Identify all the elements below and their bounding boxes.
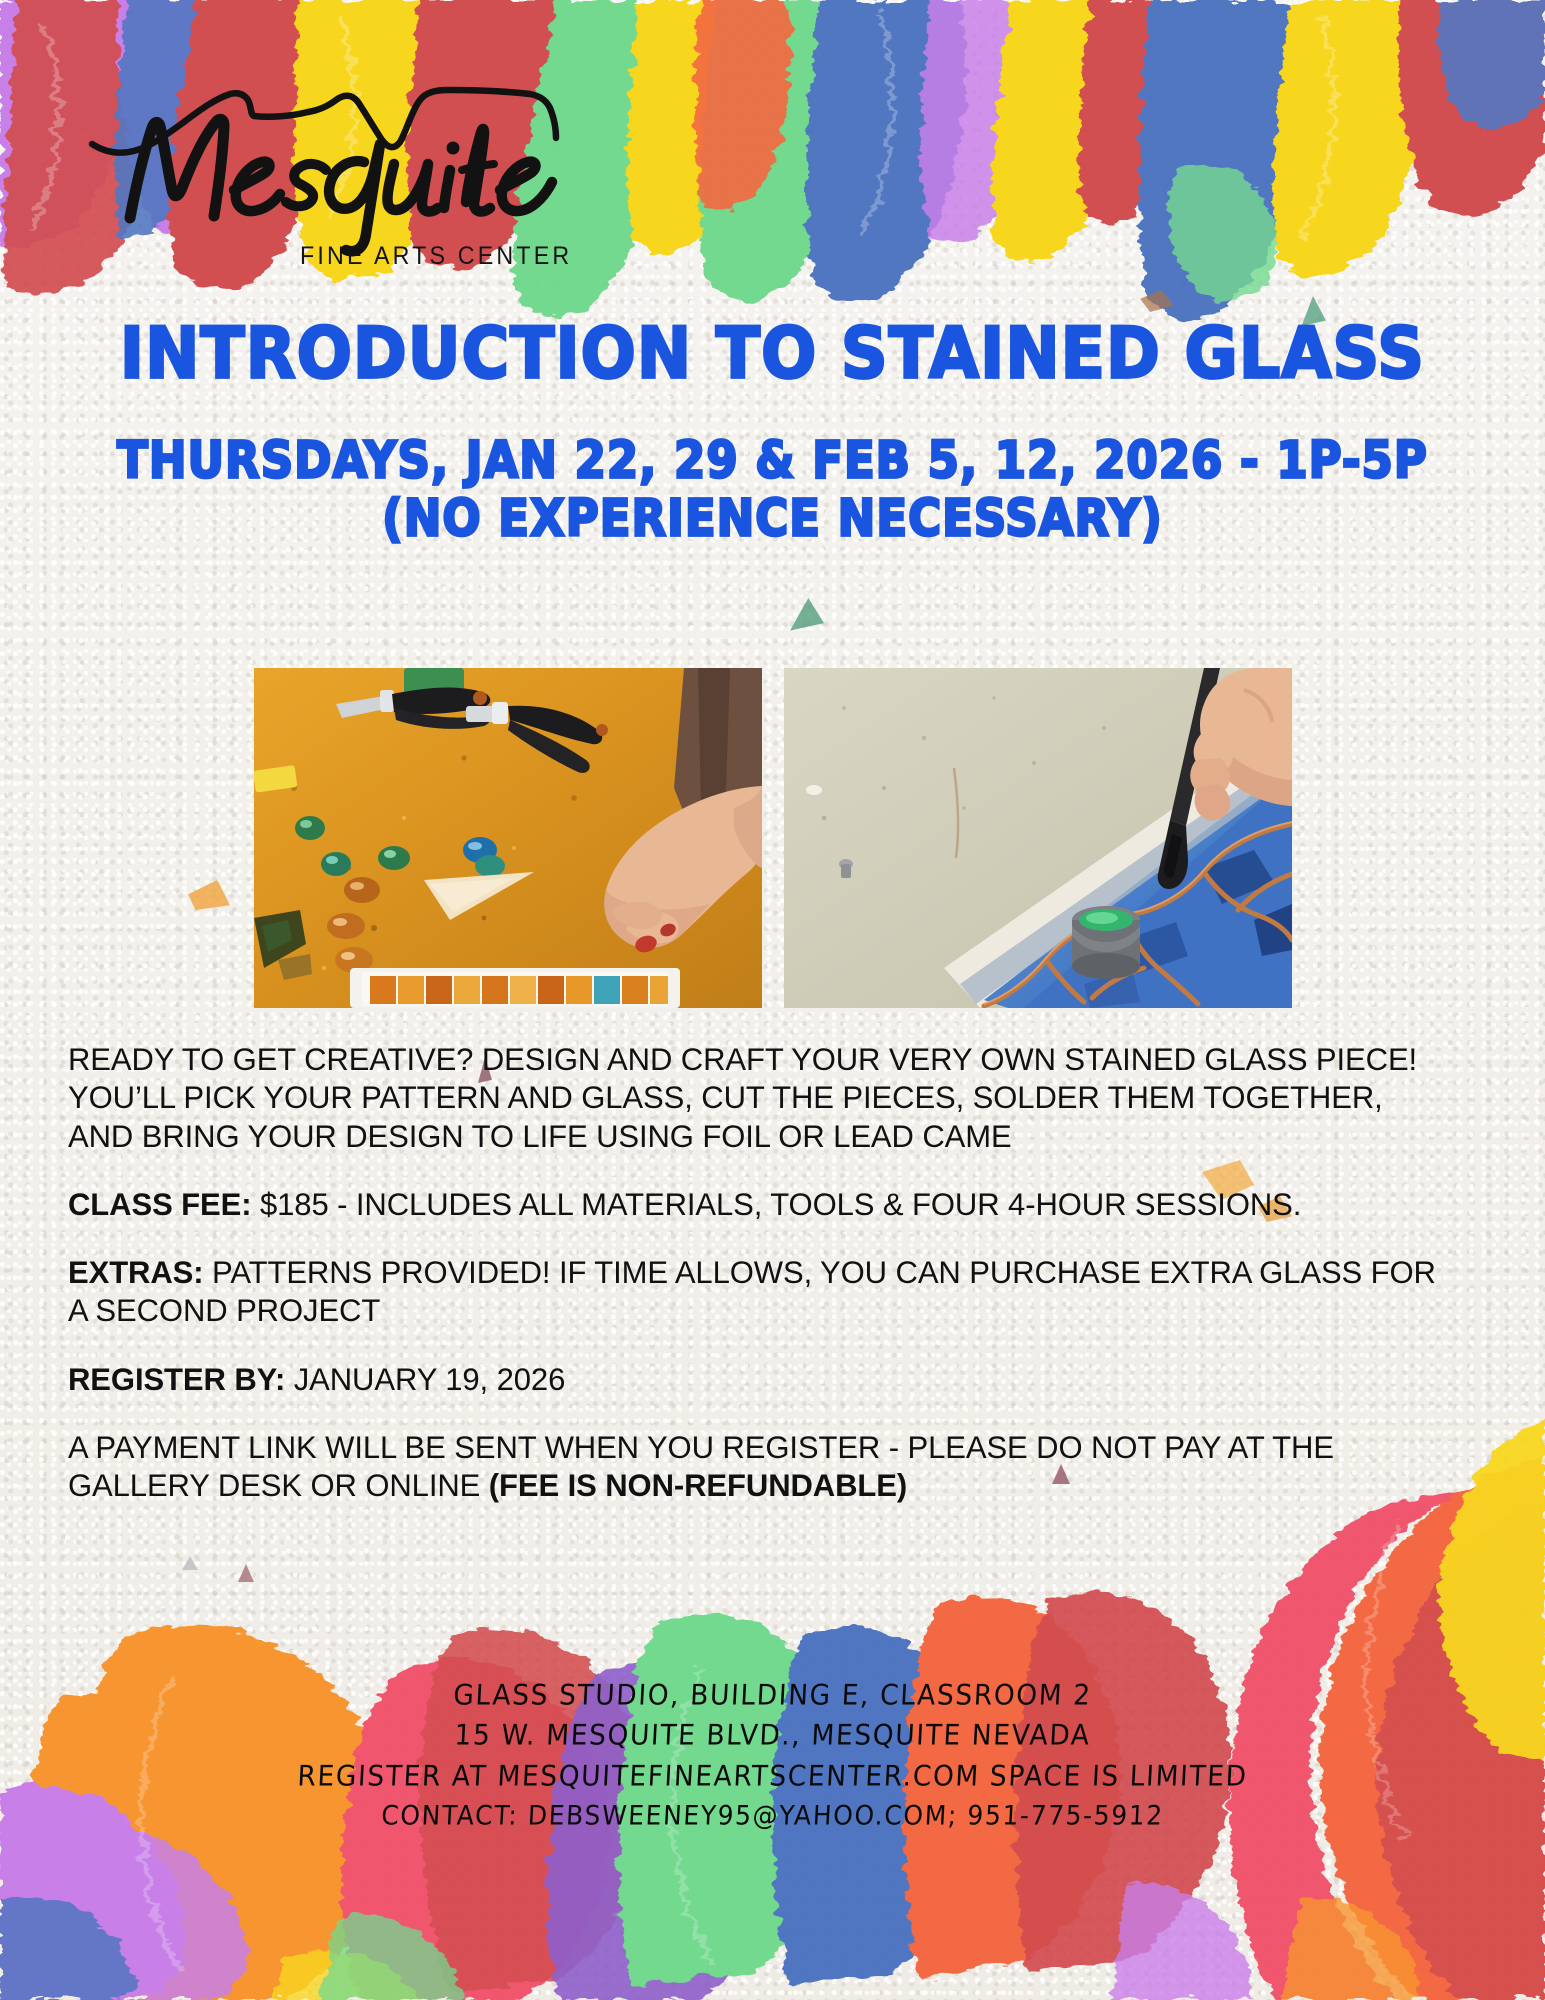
footer-location: GLASS STUDIO, BUILDING E, CLASSROOM 2 xyxy=(0,1675,1545,1718)
class-fee-label: CLASS FEE: xyxy=(68,1186,251,1222)
footer-details: GLASS STUDIO, BUILDING E, CLASSROOM 2 15… xyxy=(0,1676,1545,1835)
logo-subtitle: FINE ARTS CENTER xyxy=(300,242,572,271)
footer-contact: CONTACT: DEBSWEENEY95@YAHOO.COM; 951-775… xyxy=(0,1795,1545,1836)
non-refundable-note: (FEE IS NON-REFUNDABLE) xyxy=(489,1467,907,1503)
register-by-label: REGISTER BY: xyxy=(68,1361,285,1397)
extras-paragraph: EXTRAS: PATTERNS PROVIDED! IF TIME ALLOW… xyxy=(68,1253,1452,1330)
flyer-canvas: FINE ARTS CENTER INTRODUCTION TO STAINED… xyxy=(0,0,1545,2000)
experience-note: (NO EXPERIENCE NECESSARY) xyxy=(0,492,1545,545)
register-by-value: JANUARY 19, 2026 xyxy=(285,1361,565,1397)
class-fee-value: $185 - INCLUDES ALL MATERIALS, TOOLS & F… xyxy=(251,1186,1301,1222)
photo-row xyxy=(0,668,1545,1008)
photo-workbench-glass-mosaic xyxy=(254,668,762,1008)
intro-paragraph: READY TO GET CREATIVE? DESIGN AND CRAFT … xyxy=(68,1040,1452,1155)
footer-address: 15 W. MESQUITE BLVD., MESQUITE NEVADA xyxy=(0,1715,1545,1758)
body-copy: READY TO GET CREATIVE? DESIGN AND CRAFT … xyxy=(68,1040,1473,1504)
footer-register-url: REGISTER AT MESQUITEFINEARTSCENTER.COM S… xyxy=(0,1755,1545,1798)
page-title: INTRODUCTION TO STAINED GLASS xyxy=(0,318,1545,390)
photo-copper-foil-soldering xyxy=(784,668,1292,1008)
headline-group: INTRODUCTION TO STAINED GLASS THURSDAYS,… xyxy=(0,318,1545,540)
class-dates: THURSDAYS, JAN 22, 29 & FEB 5, 12, 2026 … xyxy=(0,434,1545,487)
register-by-paragraph: REGISTER BY: JANUARY 19, 2026 xyxy=(68,1360,1452,1398)
class-fee-paragraph: CLASS FEE: $185 - INCLUDES ALL MATERIALS… xyxy=(68,1185,1452,1223)
payment-note-paragraph: A PAYMENT LINK WILL BE SENT WHEN YOU REG… xyxy=(68,1428,1452,1505)
extras-value: PATTERNS PROVIDED! IF TIME ALLOWS, YOU C… xyxy=(68,1254,1436,1328)
extras-label: EXTRAS: xyxy=(68,1254,203,1290)
mesquite-logo xyxy=(88,66,558,226)
